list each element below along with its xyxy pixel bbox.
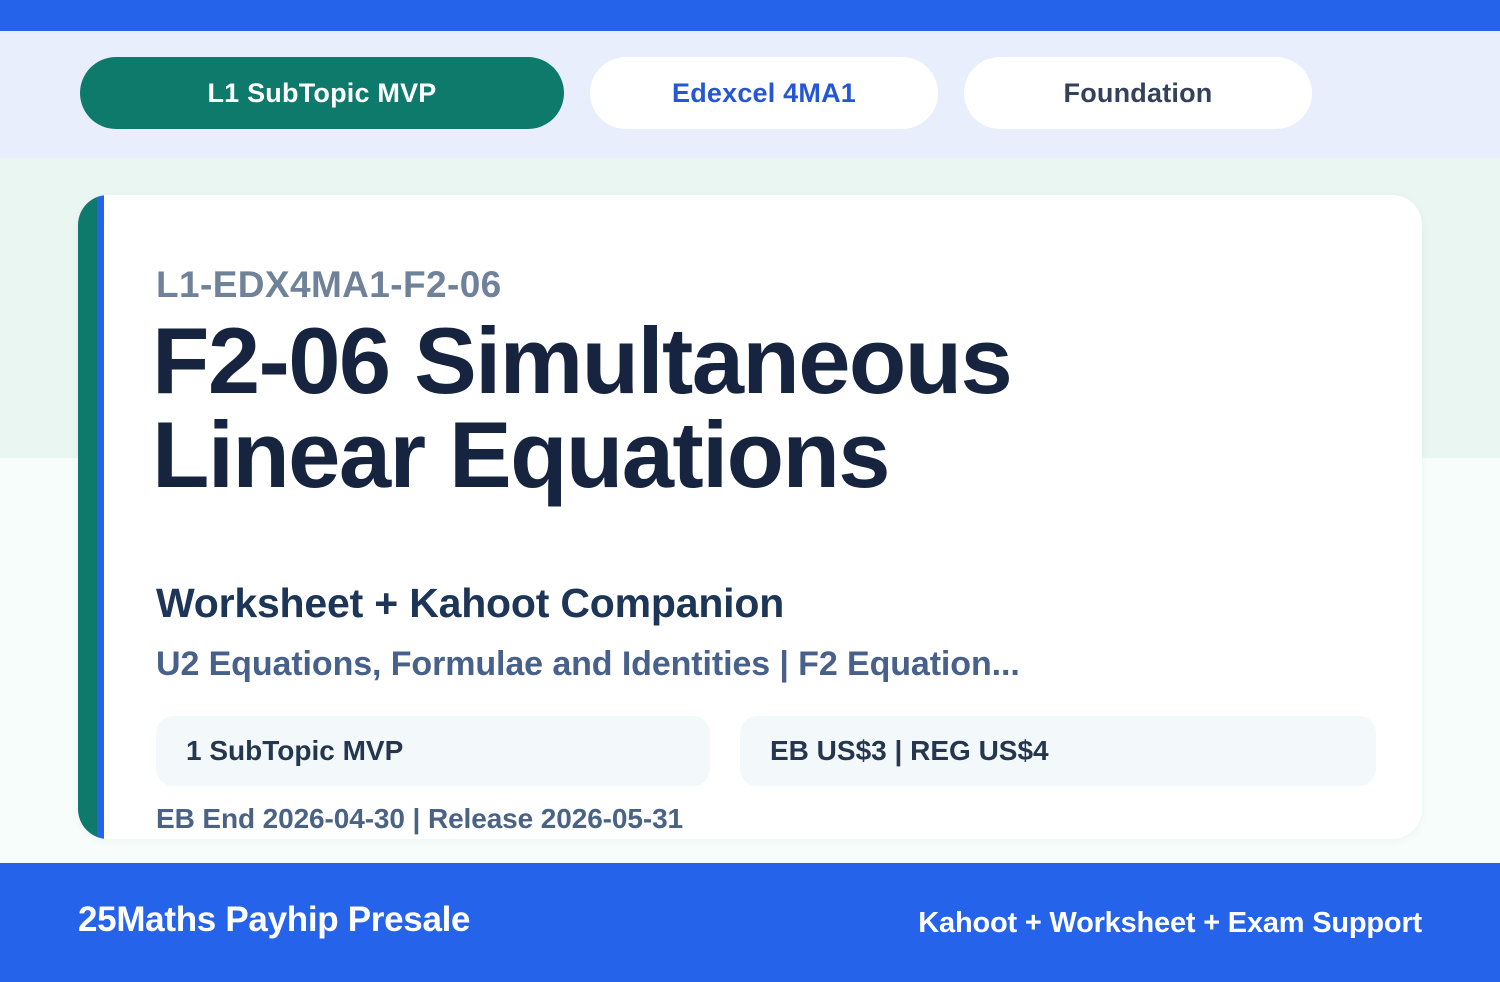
page-title-line-1: F2-06 Simultaneous [152, 314, 1352, 408]
page-title-line-2: Linear Equations [152, 408, 1352, 502]
chip-row: L1 SubTopic MVP Edexcel 4MA1 Foundation [80, 57, 1312, 129]
chip-level-mvp[interactable]: L1 SubTopic MVP [80, 57, 564, 129]
product-card: L1-EDX4MA1-F2-06 F2-06 Simultaneous Line… [78, 195, 1422, 839]
page-title: F2-06 Simultaneous Linear Equations [152, 314, 1352, 502]
card-accent-teal [78, 195, 97, 839]
product-subtitle: Worksheet + Kahoot Companion [156, 580, 784, 627]
presale-poster: L1 SubTopic MVP Edexcel 4MA1 Foundation … [0, 0, 1500, 982]
card-accent-blue [97, 195, 104, 839]
release-dates: EB End 2026-04-30 | Release 2026-05-31 [156, 803, 683, 835]
chip-exam-board[interactable]: Edexcel 4MA1 [590, 57, 938, 129]
pill-row: 1 SubTopic MVP EB US$3 | REG US$4 [156, 716, 1376, 786]
badge-pricing: EB US$3 | REG US$4 [740, 716, 1376, 786]
product-sku: L1-EDX4MA1-F2-06 [156, 264, 502, 306]
chip-tier[interactable]: Foundation [964, 57, 1312, 129]
footer-tagline: Kahoot + Worksheet + Exam Support [918, 907, 1422, 940]
badge-subtopic-count: 1 SubTopic MVP [156, 716, 710, 786]
footer-bar: 25Maths Payhip Presale Kahoot + Workshee… [0, 863, 1500, 982]
top-accent-bar [0, 0, 1500, 31]
product-unit-path: U2 Equations, Formulae and Identities | … [156, 645, 1020, 684]
card-body: L1-EDX4MA1-F2-06 F2-06 Simultaneous Line… [156, 195, 1406, 839]
footer-brand: 25Maths Payhip Presale [78, 900, 470, 940]
